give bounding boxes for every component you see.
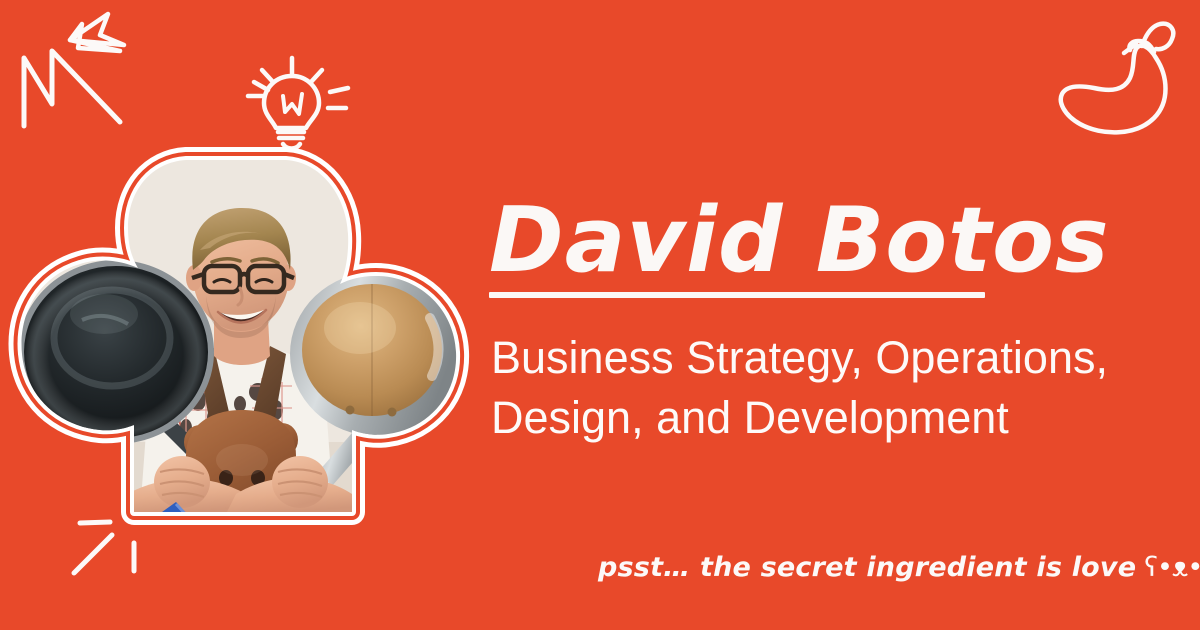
lightning-zigzag-icon xyxy=(8,4,158,134)
profile-photo-sticker xyxy=(0,142,472,542)
chili-pepper-icon xyxy=(1050,6,1190,142)
lightbulb-icon xyxy=(240,52,352,156)
photo-content xyxy=(0,142,472,542)
page-title: David Botos xyxy=(489,196,1149,286)
social-card: David Botos Business Strategy, Operation… xyxy=(0,0,1200,630)
subtitle: Business Strategy, Operations, Design, a… xyxy=(491,328,1141,448)
tagline-text: psst… the secret ingredient is love xyxy=(598,552,1136,583)
tagline: psst… the secret ingredient is loveʕ•ᴥ•ʔ xyxy=(598,552,1200,583)
text-column: David Botos Business Strategy, Operation… xyxy=(489,196,1149,448)
bear-emoticon-icon: ʕ•ᴥ•ʔ xyxy=(1144,552,1200,583)
